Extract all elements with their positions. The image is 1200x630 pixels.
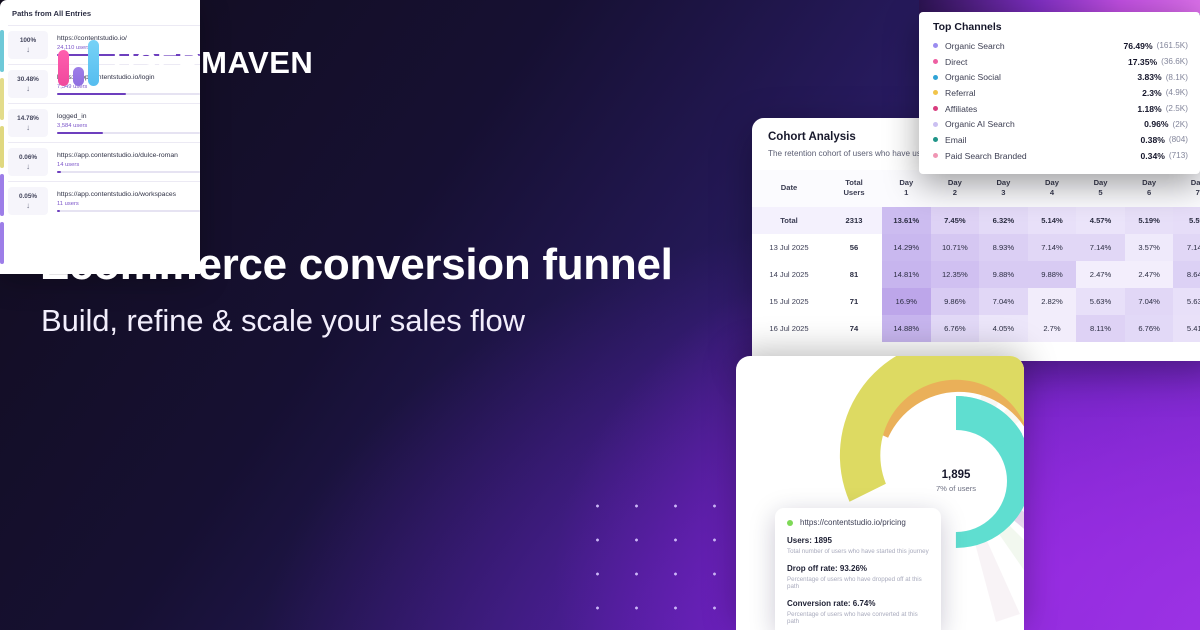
funnel-tooltip: https://contentstudio.io/pricing Users: … xyxy=(775,508,941,630)
cohort-cell-retention: 12.35% xyxy=(931,261,980,288)
decorative-dot-grid xyxy=(578,489,738,630)
cohort-cell-retention: 14.81% xyxy=(882,261,931,288)
top-channel-row[interactable]: Organic Search76.49%(161.5K) xyxy=(933,38,1188,54)
path-percentage: 30.48% xyxy=(17,76,39,83)
cohort-cell-retention: 16.9% xyxy=(882,288,931,315)
top-channel-row[interactable]: Affiliates1.18%(2.5K) xyxy=(933,101,1188,117)
path-user-count: 14 users xyxy=(57,162,200,168)
channel-percentage: 0.96% xyxy=(1144,119,1168,129)
table-row: 15 Jul 20257116.9%9.86%7.04%2.82%5.63%7.… xyxy=(752,288,1200,315)
channel-color-dot-icon xyxy=(933,75,938,80)
cohort-cell-retention: 7.04% xyxy=(1125,288,1174,315)
cohort-col-header: Day3 xyxy=(979,170,1028,207)
top-channel-row[interactable]: Paid Search Branded0.34%(713) xyxy=(933,148,1188,164)
channel-count: (36.6K) xyxy=(1161,57,1188,66)
cohort-cell-retention: 7.45% xyxy=(931,207,980,234)
channel-name: Referral xyxy=(945,88,1142,98)
path-details: https://app.contentstudio.io/dulce-roman… xyxy=(48,148,200,176)
cohort-cell-retention: 7.04% xyxy=(979,288,1028,315)
cohort-cell-retention: 4.05% xyxy=(979,315,1028,342)
cohort-col-header: Date xyxy=(752,170,826,207)
top-channels-card: Top Channels Organic Search76.49%(161.5K… xyxy=(919,12,1200,174)
promo-banner: USERMAVEN Ecommerce conversion funnel Bu… xyxy=(0,0,1200,630)
cohort-cell-retention: 9.86% xyxy=(931,288,980,315)
path-percentage: 100% xyxy=(20,37,36,44)
path-percentage-box: 0.06%↓ xyxy=(8,148,48,176)
cohort-cell-retention: 5.5% xyxy=(1173,207,1200,234)
channel-color-dot-icon xyxy=(933,137,938,142)
path-stripe-indicator xyxy=(0,174,4,216)
list-item[interactable]: 14.78%↓logged_in3,584 users xyxy=(8,103,200,137)
arrow-down-icon: ↓ xyxy=(26,202,30,210)
cohort-cell-retention: 5.14% xyxy=(1028,207,1077,234)
cohort-cell-retention: 9.88% xyxy=(1028,261,1077,288)
path-percentage: 14.78% xyxy=(17,115,39,122)
cohort-cell-retention: 3.57% xyxy=(1125,234,1174,261)
top-channels-list: Organic Search76.49%(161.5K)Direct17.35%… xyxy=(919,38,1200,164)
channel-name: Organic AI Search xyxy=(945,119,1144,129)
cohort-cell-retention: 13.61% xyxy=(882,207,931,234)
channel-percentage: 2.3% xyxy=(1142,88,1162,98)
tooltip-header: https://contentstudio.io/pricing xyxy=(787,518,929,527)
cohort-cell-retention: 5.63% xyxy=(1076,288,1125,315)
channel-count: (713) xyxy=(1169,151,1188,160)
table-row: 14 Jul 20258114.81%12.35%9.88%9.88%2.47%… xyxy=(752,261,1200,288)
cohort-table-body: Total231313.61%7.45%6.32%5.14%4.57%5.19%… xyxy=(752,207,1200,342)
channel-name: Paid Search Branded xyxy=(945,151,1141,161)
cohort-cell-date: Total xyxy=(752,207,826,234)
channel-name: Organic Search xyxy=(945,41,1123,51)
tooltip-metric-label: Users: 1895 xyxy=(787,536,929,545)
cohort-cell-retention: 10.71% xyxy=(931,234,980,261)
channel-name: Affiliates xyxy=(945,104,1137,114)
cohort-cell-total: 74 xyxy=(826,315,882,342)
cohort-cell-retention: 8.93% xyxy=(979,234,1028,261)
list-item[interactable]: 0.05%↓https://app.contentstudio.io/works… xyxy=(8,181,200,215)
top-channel-row[interactable]: Organic AI Search0.96%(2K) xyxy=(933,116,1188,132)
cohort-cell-retention: 5.63% xyxy=(1173,288,1200,315)
cohort-cell-retention: 2.82% xyxy=(1028,288,1077,315)
cohort-cell-retention: 4.57% xyxy=(1076,207,1125,234)
brand-name: USERMAVEN xyxy=(113,45,313,81)
logo-bar-pink-icon xyxy=(58,50,69,86)
cohort-header-row: DateTotalUsersDay1Day2Day3Day4Day5Day6Da… xyxy=(752,170,1200,207)
path-percentage: 0.06% xyxy=(19,154,37,161)
cohort-cell-date: 13 Jul 2025 xyxy=(752,234,826,261)
path-stripe-indicator xyxy=(0,30,4,72)
channel-percentage: 3.83% xyxy=(1137,72,1161,82)
cohort-cell-retention: 2.47% xyxy=(1076,261,1125,288)
cohort-cell-retention: 14.88% xyxy=(882,315,931,342)
cohort-cell-retention: 5.19% xyxy=(1125,207,1174,234)
path-percentage-box: 30.48%↓ xyxy=(8,70,48,98)
page-title: Ecommerce conversion funnel xyxy=(40,240,673,290)
channel-percentage: 76.49% xyxy=(1123,41,1152,51)
channel-count: (2K) xyxy=(1173,120,1188,129)
arrow-down-icon: ↓ xyxy=(26,163,30,171)
sunburst-center-value: 1,895 xyxy=(942,469,971,481)
channel-percentage: 17.35% xyxy=(1128,57,1157,67)
cohort-cell-total: 81 xyxy=(826,261,882,288)
cohort-cell-retention: 8.64% xyxy=(1173,261,1200,288)
cohort-cell-total: 71 xyxy=(826,288,882,315)
cohort-cell-total: 2313 xyxy=(826,207,882,234)
path-percentage-box: 100%↓ xyxy=(8,31,48,59)
cohort-col-header: Day4 xyxy=(1028,170,1077,207)
cohort-cell-retention: 9.88% xyxy=(979,261,1028,288)
cohort-cell-date: 15 Jul 2025 xyxy=(752,288,826,315)
channel-count: (804) xyxy=(1169,135,1188,144)
path-progress-bar xyxy=(57,132,200,134)
channel-count: (8.1K) xyxy=(1166,73,1188,82)
path-progress-bar xyxy=(57,210,200,212)
table-row: Total231313.61%7.45%6.32%5.14%4.57%5.19%… xyxy=(752,207,1200,234)
cohort-cell-retention: 2.47% xyxy=(1125,261,1174,288)
path-stripe-indicator xyxy=(0,222,4,264)
arrow-down-icon: ↓ xyxy=(26,46,30,54)
channel-color-dot-icon xyxy=(933,106,938,111)
path-details: logged_in3,584 users xyxy=(48,109,200,137)
path-user-count: 3,584 users xyxy=(57,123,200,129)
cohort-cell-retention: 2.7% xyxy=(1028,315,1077,342)
channel-color-dot-icon xyxy=(933,43,938,48)
cohort-cell-retention: 7.14% xyxy=(1173,234,1200,261)
channel-name: Direct xyxy=(945,57,1128,67)
arrow-down-icon: ↓ xyxy=(26,124,30,132)
cohort-cell-retention: 6.76% xyxy=(1125,315,1174,342)
cohort-col-header: Day6 xyxy=(1125,170,1174,207)
cohort-cell-retention: 14.29% xyxy=(882,234,931,261)
channel-color-dot-icon xyxy=(933,59,938,64)
paths-title: Paths from All Entries xyxy=(0,0,200,25)
cohort-table-head: DateTotalUsersDay1Day2Day3Day4Day5Day6Da… xyxy=(752,170,1200,207)
table-row: 16 Jul 20257414.88%6.76%4.05%2.7%8.11%6.… xyxy=(752,315,1200,342)
tooltip-status-dot-icon xyxy=(787,520,793,526)
channel-percentage: 1.18% xyxy=(1137,104,1161,114)
channel-color-dot-icon xyxy=(933,90,938,95)
channel-color-dot-icon xyxy=(933,122,938,127)
cohort-col-header: Day5 xyxy=(1076,170,1125,207)
list-item[interactable]: 0.06%↓https://app.contentstudio.io/dulce… xyxy=(8,142,200,176)
path-user-count: 11 users xyxy=(57,201,200,207)
cohort-table: DateTotalUsersDay1Day2Day3Day4Day5Day6Da… xyxy=(752,170,1200,342)
top-channel-row[interactable]: Organic Social3.83%(8.1K) xyxy=(933,69,1188,85)
sunburst-center-subtitle: 7% of users xyxy=(936,484,976,493)
cohort-col-header: Day2 xyxy=(931,170,980,207)
tooltip-metric-description: Total number of users who have started t… xyxy=(787,548,929,555)
path-url[interactable]: https://app.contentstudio.io/dulce-roman xyxy=(57,152,200,159)
tooltip-metric-description: Percentage of users who have dropped off… xyxy=(787,576,929,590)
cohort-cell-retention: 7.14% xyxy=(1028,234,1077,261)
path-url[interactable]: logged_in xyxy=(57,113,200,120)
path-percentage: 0.05% xyxy=(19,193,37,200)
channel-count: (161.5K) xyxy=(1157,41,1188,50)
path-stripe-indicator xyxy=(0,78,4,120)
logo-bar-purple-icon xyxy=(73,67,84,86)
tooltip-metric-description: Percentage of users who have converted a… xyxy=(787,611,929,625)
channel-count: (2.5K) xyxy=(1166,104,1188,113)
path-progress-bar xyxy=(57,171,200,173)
channel-name: Email xyxy=(945,135,1141,145)
cohort-col-header: TotalUsers xyxy=(826,170,882,207)
cohort-cell-date: 14 Jul 2025 xyxy=(752,261,826,288)
path-percentage-box: 0.05%↓ xyxy=(8,187,48,215)
channel-count: (4.9K) xyxy=(1166,88,1188,97)
channel-color-dot-icon xyxy=(933,153,938,158)
path-percentage-box: 14.78%↓ xyxy=(8,109,48,137)
tooltip-metric-label: Drop off rate: 93.26% xyxy=(787,564,929,573)
top-channel-row[interactable]: Direct17.35%(36.6K) xyxy=(933,54,1188,70)
path-url[interactable]: https://app.contentstudio.io/workspaces xyxy=(57,191,200,198)
path-stripe-indicator xyxy=(0,126,4,168)
channel-name: Organic Social xyxy=(945,72,1137,82)
path-progress-bar xyxy=(57,93,200,95)
table-row: 13 Jul 20255614.29%10.71%8.93%7.14%7.14%… xyxy=(752,234,1200,261)
cohort-cell-retention: 6.76% xyxy=(931,315,980,342)
cohort-cell-retention: 6.32% xyxy=(979,207,1028,234)
top-channel-row[interactable]: Referral2.3%(4.9K) xyxy=(933,85,1188,101)
tooltip-url: https://contentstudio.io/pricing xyxy=(800,518,906,527)
cohort-cell-date: 16 Jul 2025 xyxy=(752,315,826,342)
arrow-down-icon: ↓ xyxy=(26,85,30,93)
cohort-cell-retention: 5.41% xyxy=(1173,315,1200,342)
channel-percentage: 0.34% xyxy=(1141,151,1165,161)
usermaven-logo: USERMAVEN xyxy=(58,40,313,86)
path-details: https://app.contentstudio.io/workspaces1… xyxy=(48,187,200,215)
tooltip-metric-label: Conversion rate: 6.74% xyxy=(787,599,929,608)
logo-bar-blue-icon xyxy=(88,40,99,86)
channel-percentage: 0.38% xyxy=(1141,135,1165,145)
tooltip-metric-list: Users: 1895Total number of users who hav… xyxy=(787,536,929,625)
cohort-cell-total: 56 xyxy=(826,234,882,261)
logo-bars-icon xyxy=(58,40,99,86)
cohort-col-header: Day1 xyxy=(882,170,931,207)
cohort-col-header: Day7 xyxy=(1173,170,1200,207)
cohort-cell-retention: 8.11% xyxy=(1076,315,1125,342)
top-channel-row[interactable]: Email0.38%(804) xyxy=(933,132,1188,148)
top-channels-title: Top Channels xyxy=(919,12,1200,38)
cohort-cell-retention: 7.14% xyxy=(1076,234,1125,261)
page-subtitle: Build, refine & scale your sales flow xyxy=(41,303,525,339)
